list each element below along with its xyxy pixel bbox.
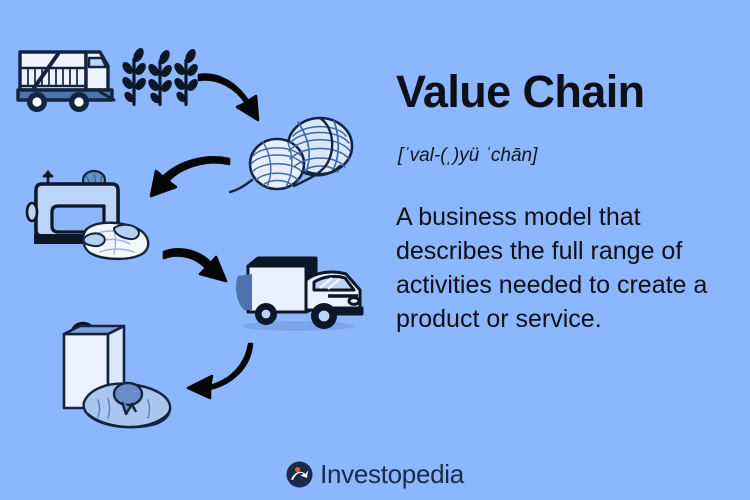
arrow-sewing-to-truck [160, 252, 236, 302]
value-chain-infographic: Value Chain [ˈval-(ˌ)yü ˈchān] A busines… [0, 0, 750, 500]
definition-body: A business model that describes the full… [396, 200, 716, 336]
delivery-truck-icon [232, 250, 368, 334]
sewing-machine-icon [26, 168, 154, 264]
definition-panel: Value Chain [ˈval-(ˌ)yü ˈchān] A busines… [396, 0, 726, 500]
folded-garment-icon [78, 372, 174, 434]
pronunciation-text: [ˈval-(ˌ)yü ˈchān] [398, 144, 537, 168]
investopedia-logo: Investopedia [0, 460, 750, 488]
arrow-yarn-to-sewing [146, 160, 232, 212]
farm-truck-icon [16, 36, 120, 114]
yarn-balls-icon [236, 112, 360, 198]
page-title: Value Chain [396, 68, 644, 116]
process-flow-diagram [0, 0, 390, 500]
investopedia-logo-text: Investopedia [320, 460, 464, 488]
arrow-truck-to-retail [166, 342, 252, 396]
cotton-plants-icon [122, 44, 200, 116]
investopedia-logo-mark [286, 461, 313, 488]
